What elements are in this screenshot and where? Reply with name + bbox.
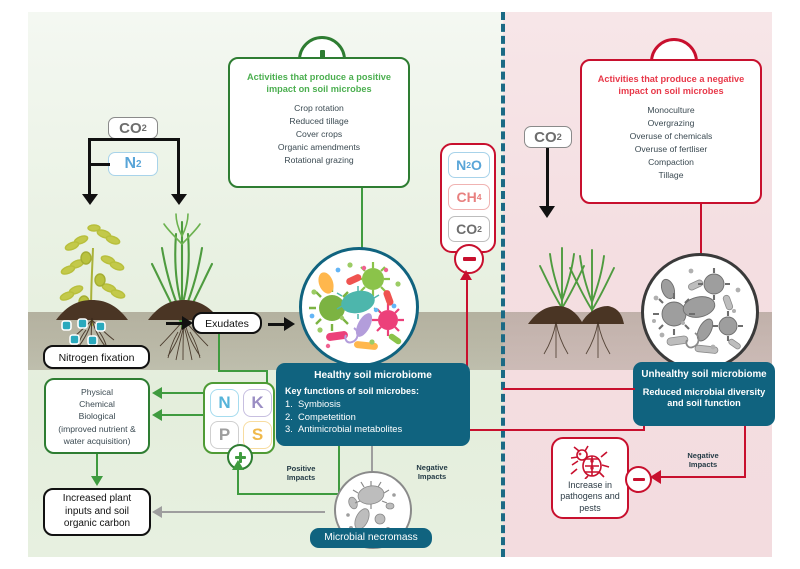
gas-chip-co2-right: CO2 [524,126,572,148]
list-item: Cover crops [240,128,398,141]
unhealthy-microbiome-subtitle: Reduced microbial diversity and soil fun… [641,387,767,409]
gas-chip-co2-emission: CO2 [448,216,490,242]
soil-to-inputs-head [91,476,103,486]
gas-formula: CO [119,120,142,137]
gas-chip-ch4: CH4 [448,184,490,210]
unhealthy-microbiome-box[interactable]: Unhealthy soil microbiome Reduced microb… [633,362,775,426]
n2-stub [88,163,110,166]
pathogens-label: Increase in pathogens and pests [553,480,627,514]
co2-right-arrow-shaft [546,148,549,208]
plant-inputs-box[interactable]: Increased plant inputs and soil organic … [43,488,151,536]
negative-impacts-label-center: Negative Impacts [405,464,459,481]
soil-property: Biological [46,410,148,422]
positive-activities-list: Crop rotation Reduced tillage Cover crop… [240,102,398,167]
positive-impacts-arrow-head [232,460,244,470]
exudates-box[interactable]: Exudates [192,312,262,334]
co2-right-arrow-head [539,206,555,218]
negative-activities-panel[interactable]: Activities that produce a negative impac… [580,59,762,204]
nitrogen-fixation-label: Nitrogen fixation [59,352,135,364]
soil-properties-box[interactable]: Physical Chemical Biological (improved n… [44,378,150,454]
colorful-microbes-circle-icon [299,247,419,367]
exudates-green-right [218,370,268,372]
necromass-box[interactable]: Microbial necromass [310,528,432,548]
nutrient-cell-n: N [210,389,239,417]
minus-badge-pathogens [625,466,652,493]
healthy-microbiome-box[interactable]: Healthy soil microbiome Key functions of… [276,363,470,446]
nutrient-cell-k: K [243,389,272,417]
side-divider [501,12,505,557]
soil-to-inputs-shaft [96,454,98,478]
unhealthy-to-emissions-horizontal [465,429,645,431]
list-item: Rotational grazing [240,154,398,167]
positive-activities-panel[interactable]: Activities that produce a positive impac… [228,57,410,188]
exudates-green-down [218,334,220,372]
plant-inputs-label: Increased plant inputs and soil organic … [51,493,143,531]
healthy-to-necromass-shaft [371,446,373,474]
exudates-arrow-shaft [268,323,286,326]
necromass-to-inputs-line [160,511,325,513]
negative-left-feed-horizontal [503,388,635,390]
pathogens-feed-horizontal [660,476,746,478]
arrow-to-grass [171,194,187,205]
soil-property-note: (improved nutrient & [46,423,148,435]
nutrient-cell-s: S [243,421,272,449]
negative-panel-connector [700,204,702,260]
soil-property: Physical [46,386,148,398]
list-item: Crop rotation [240,102,398,115]
necromass-label: Microbial necromass [324,532,417,543]
gas-formula: N [124,155,136,173]
nitrogen-fixation-box[interactable]: Nitrogen fixation [43,345,150,369]
diagram-canvas: CO2 N2 [0,0,800,569]
list-item: Reduced tillage [240,115,398,128]
emissions-box[interactable]: N2O CH4 CO2 [440,143,496,253]
gas-bracket-horizontal [88,138,180,141]
unhealthy-microbiome-title: Unhealthy soil microbiome [641,369,767,381]
gas-bracket-right-down [177,138,180,196]
soil-property: Chemical [46,398,148,410]
gas-chip-n2-left: N2 [108,152,158,176]
grass-to-exudates-head [182,316,193,330]
negative-activities-title: Activities that produce a negative impac… [590,73,752,98]
pathogens-box[interactable]: Increase in pathogens and pests [551,437,629,519]
gas-chip-n2o: N2O [448,152,490,178]
gas-formula: CO [534,129,557,146]
list-item: Monoculture [590,104,752,117]
list-item: Overuse of chemicals [590,130,752,143]
stressed-soil-and-roots [524,304,628,364]
healthy-microbiome-title: Healthy soil microbiome [285,370,461,381]
negative-impacts-label-right: Negative Impacts [676,452,730,469]
pest-bug-icon [568,445,612,479]
list-item: Organic amendments [240,141,398,154]
list-item: Compaction [590,156,752,169]
arrow-to-legume [82,194,98,205]
grey-microbes-circle-icon [641,253,759,371]
gas-chip-co2-left: CO2 [108,117,158,139]
emissions-arrow-head [460,270,472,280]
healthy-microbiome-subtitle: Key functions of soil microbes: [285,386,461,396]
function-item: 2.Competetition [285,411,461,424]
positive-panel-connector [361,188,363,250]
pathogens-feed-vertical [744,426,746,478]
gas-bracket-left-down [88,138,91,196]
positive-impacts-horizontal [238,493,340,495]
negative-activities-list: Monoculture Overgrazing Overuse of chemi… [590,104,752,182]
positive-impacts-label: Positive Impacts [275,465,327,482]
list-item: Tillage [590,169,752,182]
necromass-to-inputs-head [152,506,162,518]
list-item: Overuse of fertliser [590,143,752,156]
positive-impacts-vertical-left [237,468,239,495]
list-item: Overgrazing [590,117,752,130]
function-item: 3.Antimicrobial metabolites [285,423,461,436]
npks-to-soil-head [152,409,162,421]
positive-activities-title: Activities that produce a positive impac… [240,71,398,96]
soil-property-note: water acquisition) [46,435,148,447]
exudates-label: Exudates [205,318,249,330]
exudates-green-arrow-head [152,387,162,399]
function-item: 1.Symbiosis [285,398,461,411]
